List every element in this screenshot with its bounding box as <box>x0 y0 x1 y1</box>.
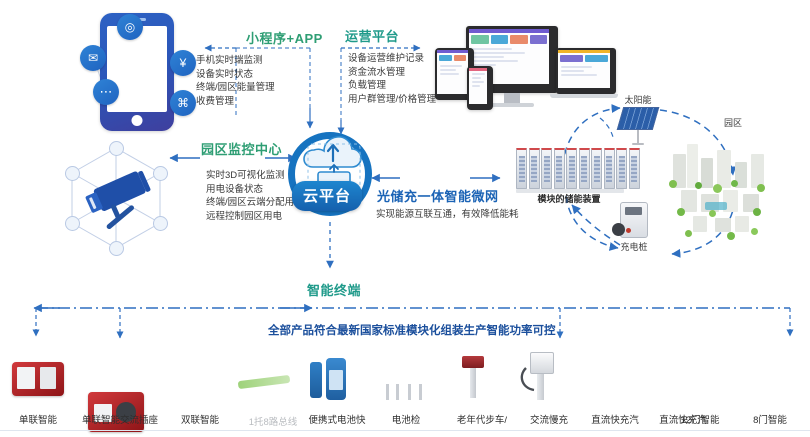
microgrid-item-list: 实现能源互联互通，有效降低能耗 <box>376 208 519 222</box>
chat-icon[interactable]: ⋯ <box>93 79 119 105</box>
operations-title: 运营平台 <box>345 26 399 45</box>
product-image <box>462 356 484 398</box>
laptop-device <box>556 48 618 98</box>
mobile-device <box>467 66 493 110</box>
city-park-icon <box>665 132 795 248</box>
product-image <box>12 362 64 396</box>
gamepad-icon-glyph: ⌘ <box>177 96 189 110</box>
miniapp-title: 小程序+APP <box>246 28 323 47</box>
solar-label: 太阳能 <box>608 93 668 106</box>
operations-item: 用户群管理/价格管理 <box>348 93 436 107</box>
operations-item: 资金流水管理 <box>348 66 436 80</box>
product-label: 老年代步车/ <box>444 412 520 426</box>
camera-icon <box>60 142 178 252</box>
product-label: 单联智能交流插座 <box>74 412 166 426</box>
monitor-title: 园区监控中心 <box>201 139 282 158</box>
product-image <box>530 352 554 400</box>
camera-icon-glyph: ◎ <box>125 20 135 34</box>
operations-item: 负载管理 <box>348 79 436 93</box>
monitoring-camera-illustration <box>60 142 178 252</box>
miniapp-item: 设备实时状态 <box>196 68 275 82</box>
product-label: 便携式电池快 <box>302 412 372 426</box>
currency-yen-icon[interactable]: ¥ <box>170 50 196 76</box>
terminal-label: 智能终端 <box>307 280 361 299</box>
cloud-platform-label: 云平台 <box>292 181 362 211</box>
product-label: 单联智能 <box>0 412 76 426</box>
miniapp-item-list: 手机实时端监测 设备实时状态 终端/园区能量管理 收费管理 <box>196 54 275 108</box>
product-image <box>238 375 291 389</box>
mail-icon-glyph: ✉ <box>88 51 98 65</box>
microgrid-title: 光储充一体智能微网 <box>377 186 499 205</box>
currency-yen-icon-glyph: ¥ <box>180 56 187 70</box>
miniapp-item: 终端/园区能量管理 <box>196 81 275 95</box>
footer-divider <box>0 430 810 431</box>
chat-icon-glyph: ⋯ <box>100 84 113 100</box>
product-label: 1托8路总线 <box>238 414 308 428</box>
standards-banner: 全部产品符合最新国家标准模块化组装生产智能功率可控 <box>268 322 556 338</box>
charging-pile-icon <box>620 202 648 238</box>
mail-icon[interactable]: ✉ <box>80 45 106 71</box>
gamepad-icon[interactable]: ⌘ <box>170 90 196 116</box>
solar-panel-icon <box>620 107 656 145</box>
storage-label: 模块的储能装置 <box>513 192 625 205</box>
dashboard-to-grid-link <box>600 118 614 140</box>
product-label: 12门智能 <box>668 412 732 426</box>
miniapp-item: 手机实时端监测 <box>196 54 275 68</box>
product-label: 8门智能 <box>738 412 802 426</box>
product-cables <box>384 384 428 400</box>
phone-home-button[interactable] <box>132 115 143 126</box>
operations-item: 设备运营维护记录 <box>348 52 436 66</box>
camera-icon[interactable]: ◎ <box>117 14 143 40</box>
diagram-canvas: ◎ ✉ ⋯ ¥ ⌘ 小程序+APP 手机实时端监测 设备实时状态 终端/园区能量… <box>0 0 810 437</box>
charging-pile-label: 充电桩 <box>606 240 662 253</box>
miniapp-item: 收费管理 <box>196 95 275 109</box>
product-label: 双联智能 <box>160 412 240 426</box>
product-label: 交流慢充 <box>518 412 580 426</box>
operations-item-list: 设备运营维护记录 资金流水管理 负载管理 用户群管理/价格管理 <box>348 52 436 106</box>
battery-rack-icon <box>516 148 640 193</box>
park-label: 园区 <box>710 116 756 129</box>
product-label: 直流快充汽 <box>582 412 648 426</box>
microgrid-item: 实现能源互联互通，有效降低能耗 <box>376 208 519 222</box>
product-label: 电池检 <box>378 412 434 426</box>
